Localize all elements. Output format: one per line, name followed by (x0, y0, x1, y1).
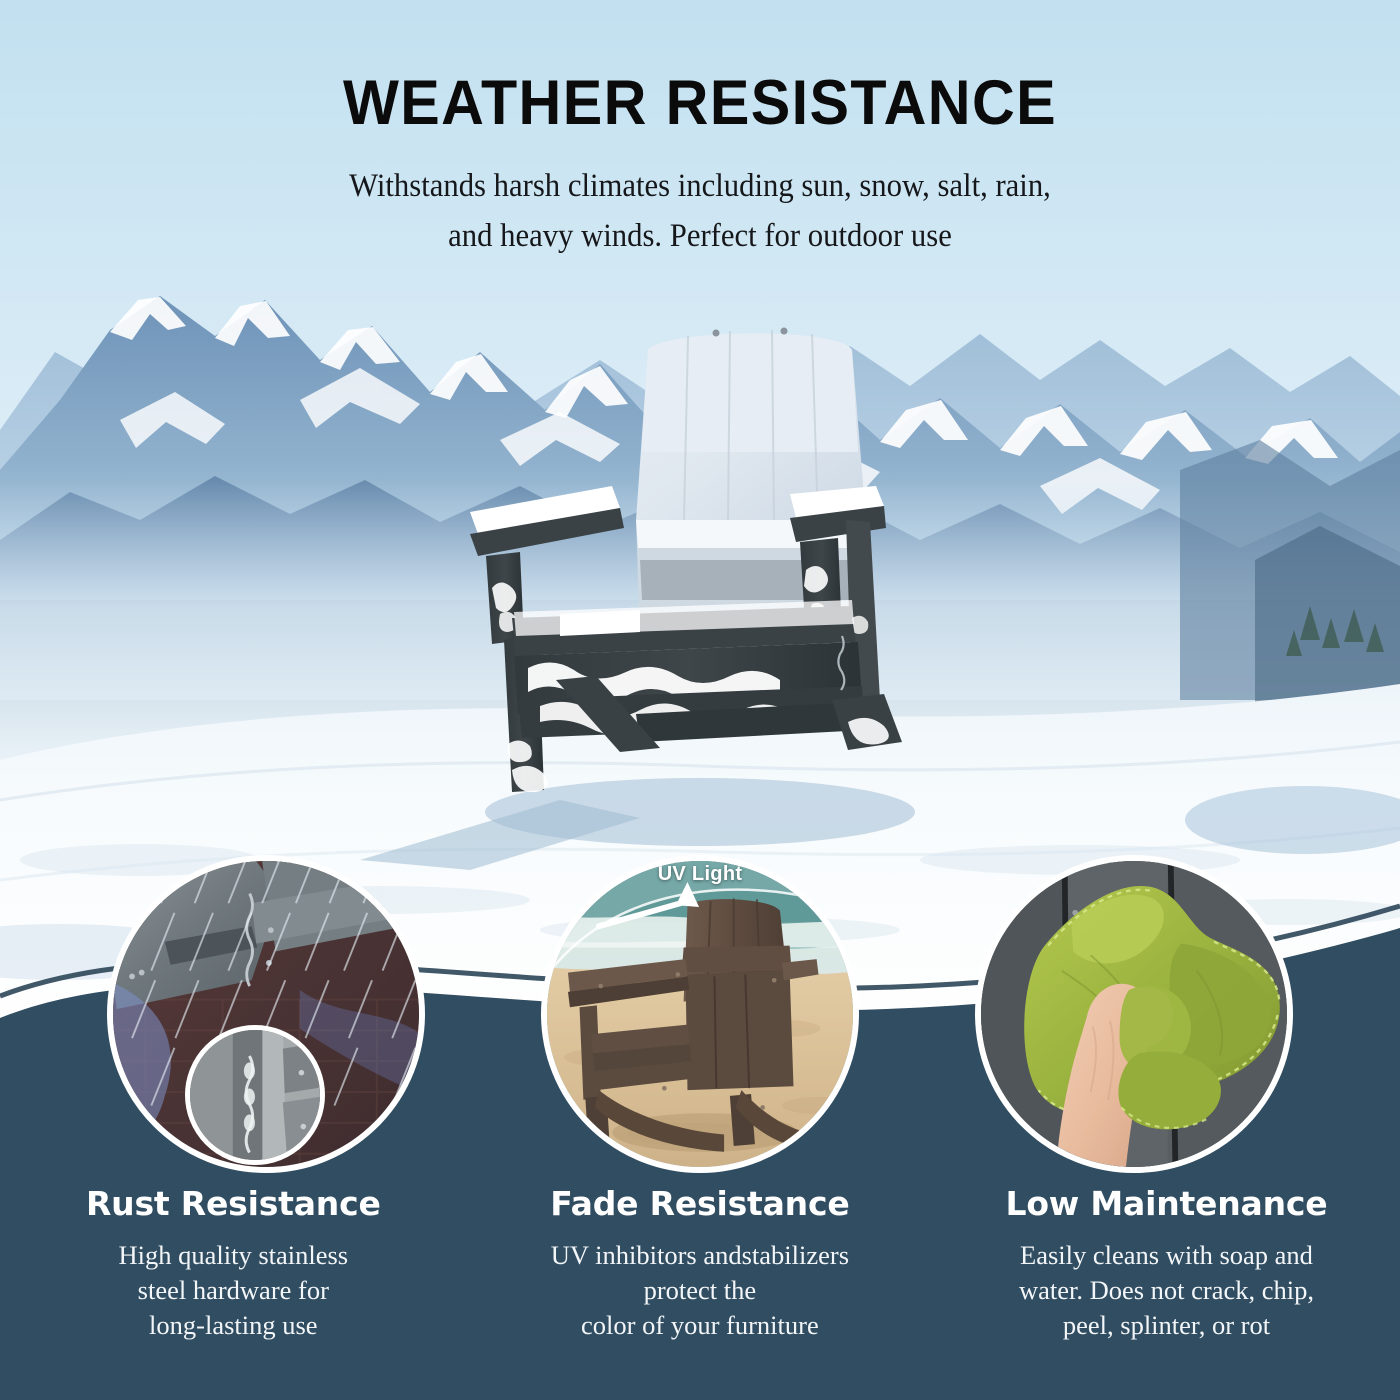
hand-cloth-photo (975, 855, 1293, 1173)
feature-body-line: peel, splinter, or rot (1063, 1310, 1270, 1340)
feature-card-fade-resistance: Fade Resistance UV inhibitors andstabili… (467, 1186, 934, 1343)
feature-body-fade: UV inhibitors andstabilizers protect the… (489, 1238, 912, 1343)
feature-image-fade-resistance: UV Light (541, 855, 859, 1173)
chain-closeup-photo (190, 1030, 320, 1160)
feature-heading-fade: Fade Resistance (489, 1186, 912, 1222)
beach-chair-uv-photo (541, 855, 859, 1173)
feature-body-line: long-lasting use (149, 1310, 318, 1340)
inset-closeup-chain (185, 1025, 325, 1165)
uv-light-label: UV Light (541, 863, 859, 886)
feature-heading-maintenance: Low Maintenance (955, 1186, 1378, 1222)
infographic-root: WEATHER RESISTANCE Withstands harsh clim… (0, 0, 1400, 1400)
feature-body-line: UV inhibitors andstabilizers (551, 1240, 849, 1270)
feature-card-rust-resistance: Rust Resistance High quality stainless s… (0, 1186, 467, 1343)
feature-body-line: water. Does not crack, chip, (1019, 1275, 1314, 1305)
subtitle-line-1: Withstands harsh climates including sun,… (49, 161, 1351, 211)
page-title: WEATHER RESISTANCE (42, 72, 1358, 135)
feature-body-maintenance: Easily cleans with soap and water. Does … (955, 1238, 1378, 1343)
feature-image-low-maintenance (975, 855, 1293, 1173)
page-subtitle: Withstands harsh climates including sun,… (49, 161, 1351, 261)
feature-card-low-maintenance: Low Maintenance Easily cleans with soap … (933, 1186, 1400, 1343)
feature-image-rust-resistance (107, 855, 425, 1173)
feature-body-line: Easily cleans with soap and (1020, 1240, 1313, 1270)
header-block: WEATHER RESISTANCE Withstands harsh clim… (0, 0, 1400, 261)
feature-text-row: Rust Resistance High quality stainless s… (0, 1186, 1400, 1343)
feature-heading-rust: Rust Resistance (22, 1186, 445, 1222)
feature-body-line: color of your furniture (581, 1310, 819, 1340)
subtitle-line-2: and heavy winds. Perfect for outdoor use (49, 211, 1351, 261)
feature-body-line: steel hardware for (138, 1275, 329, 1305)
feature-body-line: protect the (644, 1275, 757, 1305)
feature-body-line: High quality stainless (118, 1240, 348, 1270)
feature-body-rust: High quality stainless steel hardware fo… (22, 1238, 445, 1343)
